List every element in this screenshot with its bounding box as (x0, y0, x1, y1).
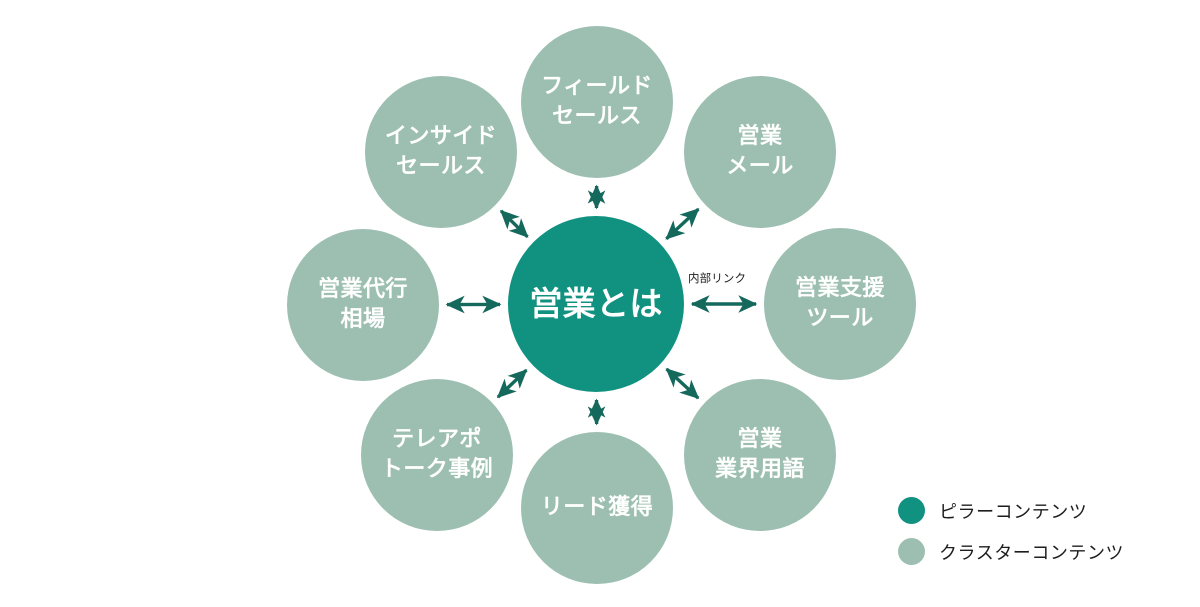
edge-label-internal-link: 内部リンク (688, 270, 746, 286)
cluster-node-2[interactable]: 営業支援 ツール (764, 228, 916, 380)
cluster-node-7[interactable]: インサイド セールス (365, 76, 517, 228)
connector-arrow-7 (501, 211, 528, 237)
legend-label-pillar: ピラーコンテンツ (939, 498, 1087, 524)
legend-item-pillar: ピラーコンテンツ (898, 497, 1124, 524)
cluster-node-label-4: リード獲得 (535, 493, 659, 523)
legend-dot-pillar-icon (898, 497, 925, 524)
cluster-node-6[interactable]: 営業代行 相場 (287, 229, 439, 381)
legend: ピラーコンテンツ クラスターコンテンツ (898, 497, 1124, 565)
topic-cluster-diagram: 営業とは フィールド セールス営業 メール営業支援 ツール営業 業界用語リード獲… (0, 0, 1200, 607)
cluster-node-5[interactable]: テレアポ トーク事例 (361, 379, 513, 531)
cluster-node-label-7: インサイド セールス (379, 122, 503, 183)
cluster-node-label-6: 営業代行 相場 (312, 275, 414, 336)
cluster-node-label-3: 営業 業界用語 (709, 425, 811, 486)
cluster-node-3[interactable]: 営業 業界用語 (684, 379, 836, 531)
legend-item-cluster: クラスターコンテンツ (898, 538, 1124, 565)
connector-arrow-5 (498, 370, 527, 397)
pillar-node-sales-overview[interactable]: 営業とは (508, 216, 684, 392)
cluster-node-4[interactable]: リード獲得 (521, 432, 673, 584)
pillar-node-label: 営業とは (523, 281, 668, 327)
cluster-node-1[interactable]: 営業 メール (684, 76, 836, 228)
cluster-node-label-2: 営業支援 ツール (789, 274, 891, 335)
cluster-node-label-0: フィールド セールス (535, 72, 659, 133)
legend-label-cluster: クラスターコンテンツ (939, 539, 1124, 565)
connector-arrow-1 (666, 209, 698, 239)
cluster-node-label-5: テレアポ トーク事例 (375, 425, 499, 486)
legend-dot-cluster-icon (898, 538, 925, 565)
cluster-node-0[interactable]: フィールド セールス (521, 26, 673, 178)
connector-arrow-3 (667, 369, 699, 398)
cluster-node-label-1: 営業 メール (720, 122, 799, 183)
